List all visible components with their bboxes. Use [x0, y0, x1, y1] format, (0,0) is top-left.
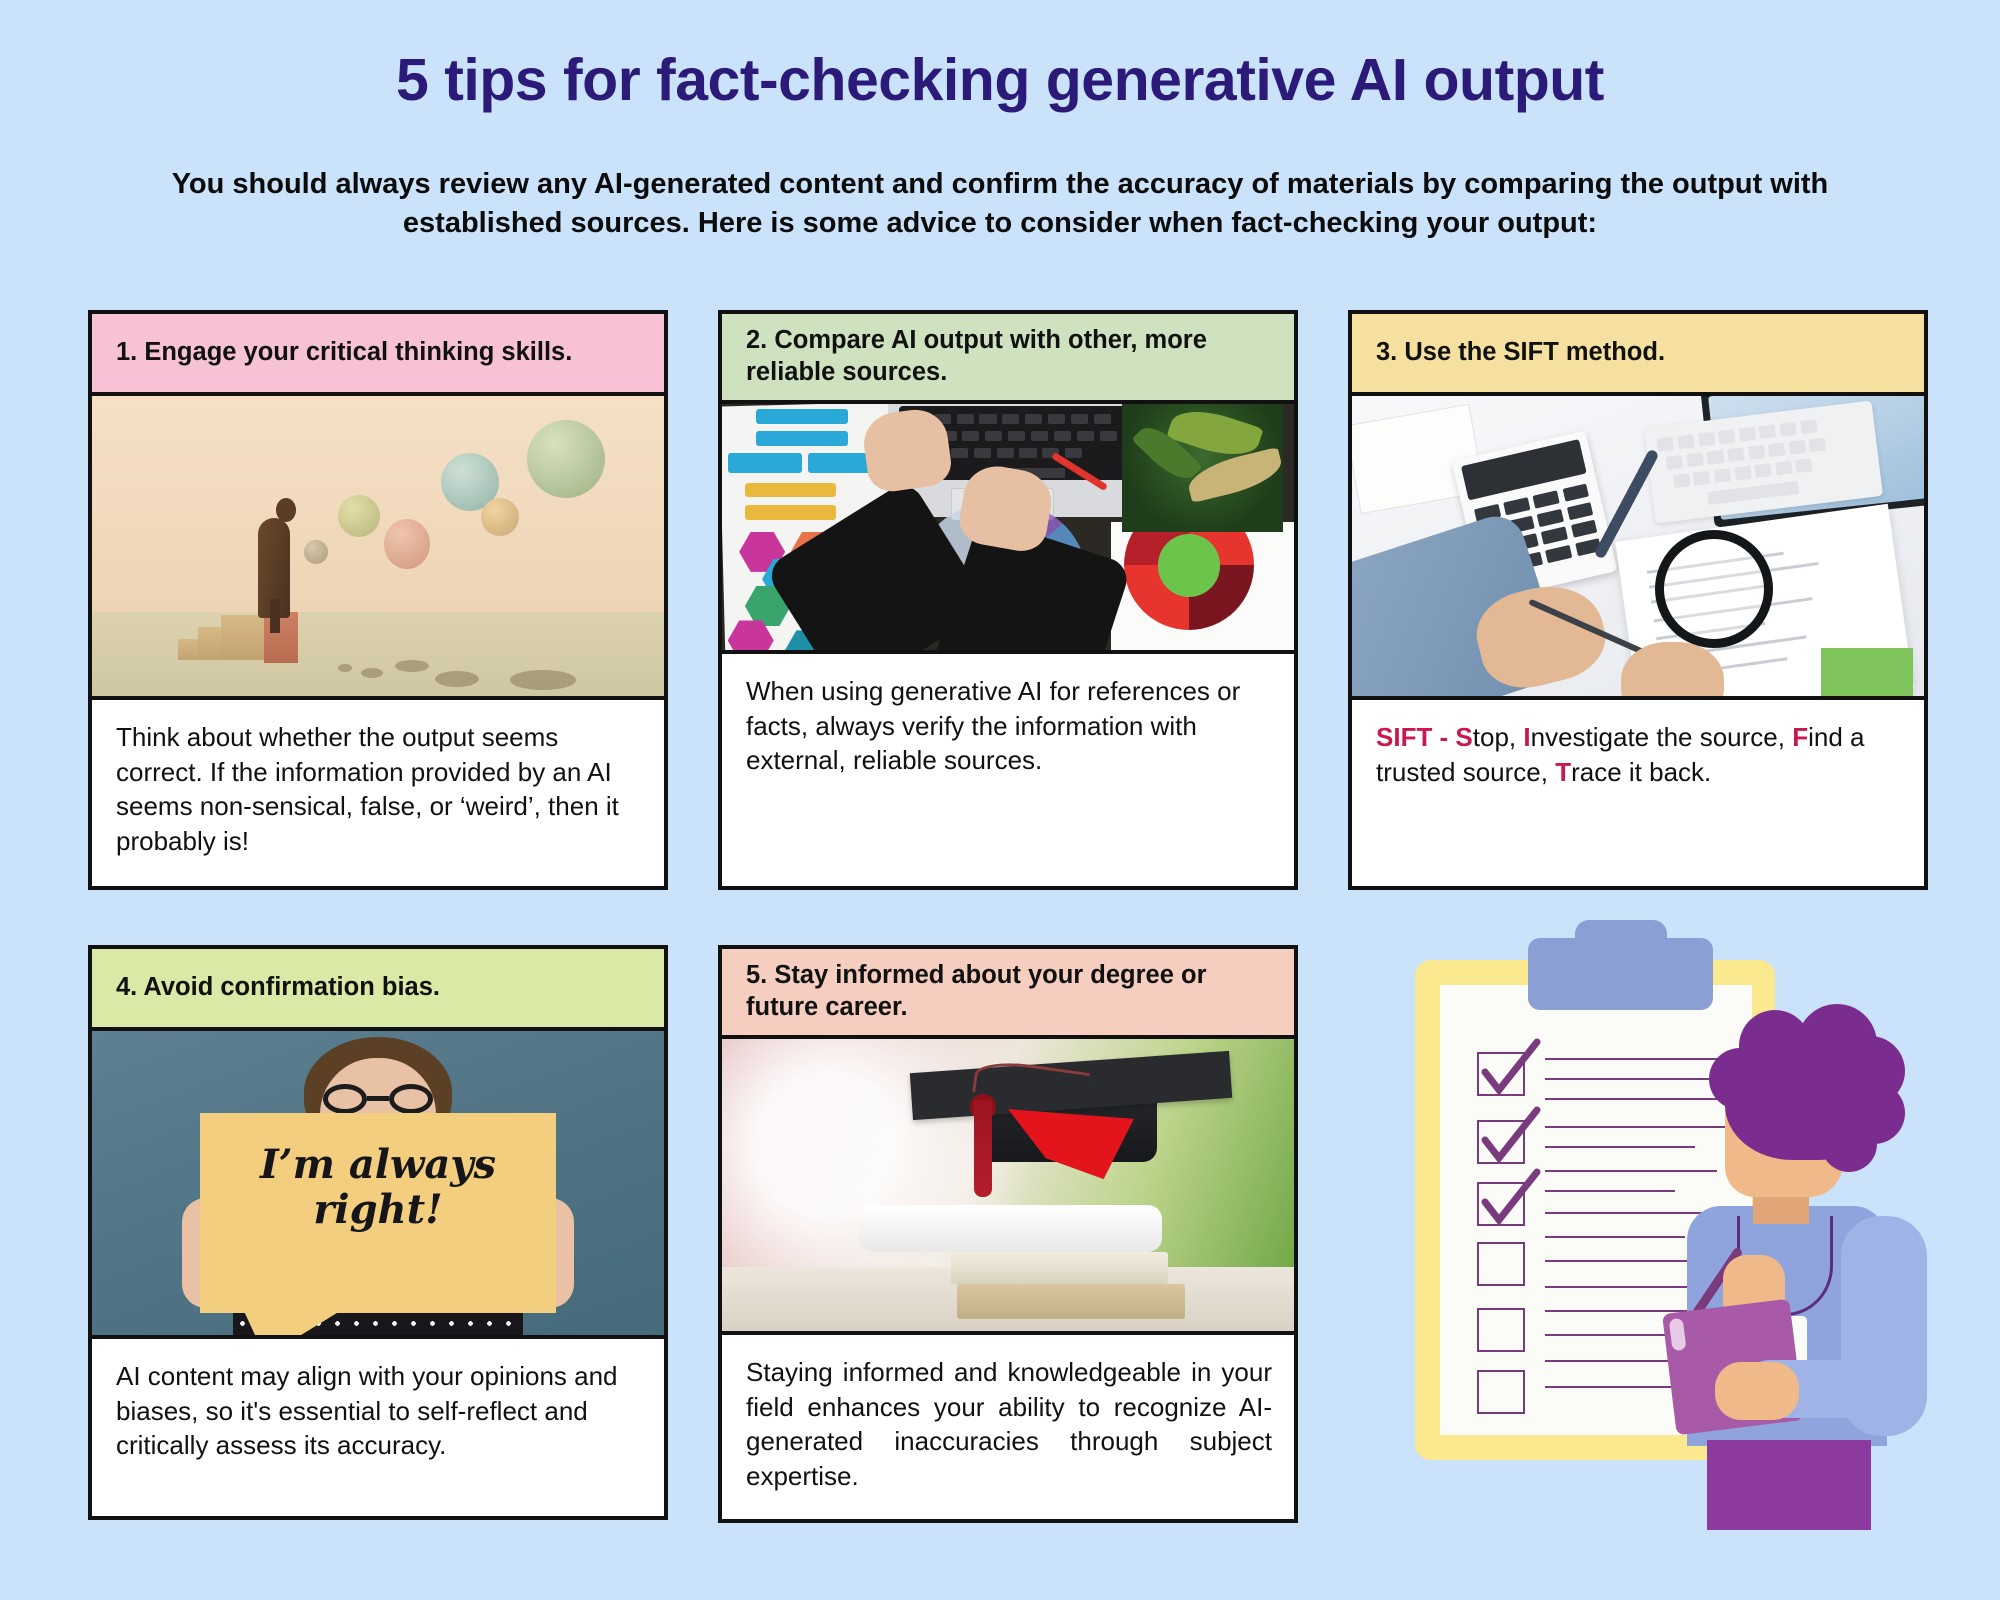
tip-card-2: 2. Compare AI output with other, more re…	[718, 310, 1298, 890]
sift-keyword-i: I	[1523, 722, 1530, 752]
sift-text-4: race it back.	[1571, 757, 1711, 787]
tip-card-5-body: Staying informed and knowledgeable in yo…	[722, 1335, 1294, 1519]
wooden-figure-with-floating-spheres-photo	[92, 396, 664, 700]
tip-card-4: 4. Avoid confirmation bias. I’m always r…	[88, 945, 668, 1520]
tip-card-5-heading: 5. Stay informed about your degree or fu…	[722, 949, 1294, 1039]
tip-card-3: 3. Use the SIFT method.	[1348, 310, 1928, 890]
checkbox-5	[1477, 1308, 1525, 1352]
checkbox-2	[1477, 1120, 1525, 1164]
tip-card-2-heading: 2. Compare AI output with other, more re…	[722, 314, 1294, 404]
tip-card-2-body: When using generative AI for references …	[722, 654, 1294, 886]
person-with-checklist-clipboard-illustration	[1395, 930, 1955, 1530]
person-hair	[1725, 1030, 1885, 1160]
sift-text-1: top,	[1473, 722, 1524, 752]
sift-text-2: nvestigate the source,	[1531, 722, 1793, 752]
tip-card-3-heading: 3. Use the SIFT method.	[1352, 314, 1924, 396]
page-title: 5 tips for fact-checking generative AI o…	[0, 46, 2000, 114]
tip-card-4-heading: 4. Avoid confirmation bias.	[92, 949, 664, 1031]
checkbox-6	[1477, 1370, 1525, 1414]
woman-holding-im-always-right-sign-photo: I’m always right!	[92, 1031, 664, 1339]
sift-keyword-f: F	[1792, 722, 1808, 752]
tip-card-1-heading: 1. Engage your critical thinking skills.	[92, 314, 664, 396]
checkbox-4	[1477, 1242, 1525, 1286]
tip-card-5: 5. Stay informed about your degree or fu…	[718, 945, 1298, 1523]
sift-keyword-prefix: SIFT - S	[1376, 722, 1473, 752]
clipboard-clip	[1528, 938, 1713, 1010]
desk-with-calculator-and-magnifying-glass-photo	[1352, 396, 1924, 700]
checkbox-3	[1477, 1182, 1525, 1226]
sign-text: I’m always right!	[200, 1143, 556, 1233]
person-figure	[1645, 1030, 1965, 1530]
tip-card-1: 1. Engage your critical thinking skills.…	[88, 310, 668, 890]
tip-card-4-body: AI content may align with your opinions …	[92, 1339, 664, 1516]
checkbox-1	[1477, 1052, 1525, 1096]
person-hand-holding-tablet	[1715, 1362, 1799, 1420]
person-trousers	[1707, 1440, 1871, 1530]
hands-typing-on-laptop-with-charts-photo	[722, 404, 1294, 654]
infographic-page: 5 tips for fact-checking generative AI o…	[0, 0, 2000, 1600]
page-subtitle: You should always review any AI-generate…	[100, 165, 1900, 242]
sift-keyword-t: T	[1555, 757, 1571, 787]
tip-card-3-body: SIFT - Stop, Investigate the source, Fin…	[1352, 700, 1924, 886]
tip-card-1-body: Think about whether the output seems cor…	[92, 700, 664, 886]
graduation-cap-and-diploma-photo	[722, 1039, 1294, 1335]
